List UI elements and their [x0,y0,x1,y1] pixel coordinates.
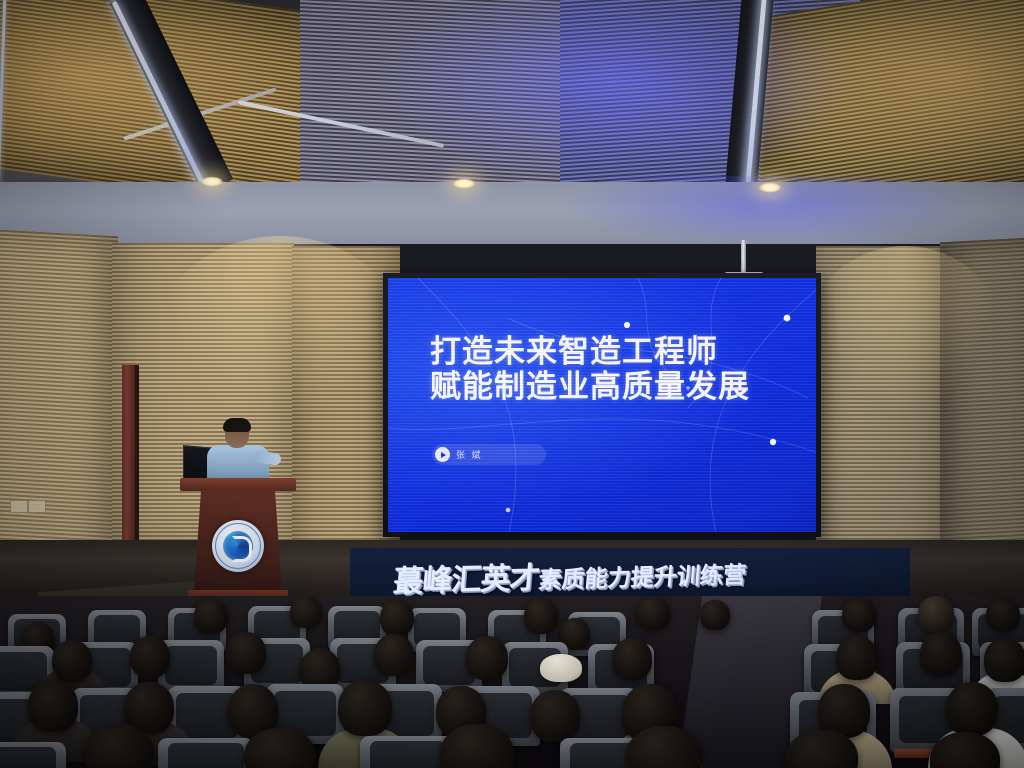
presentation-screen[interactable]: 打造未来智造工程师 赋能制造业高质量发展 张 斌 [388,278,816,532]
audience-head [920,632,962,676]
audience-head [612,638,652,680]
audience-head [374,634,414,676]
ceiling-panel-mid-left [300,0,600,186]
lectern-podium [186,478,290,606]
audience-head [338,680,392,736]
wall-outlet[interactable] [10,500,28,513]
recessed-downlight-icon [758,182,782,193]
audience-head [918,596,954,632]
seat[interactable] [158,738,254,768]
recessed-downlight-icon [200,176,224,187]
lecture-hall-photo: 打造未来智造工程师 赋能制造业高质量发展 张 斌 蕞峰汇英才素质能力提升训练营 [0,0,1024,768]
audience-head [836,636,878,680]
audience-head-with-cap [540,654,582,682]
audience-head [986,598,1020,632]
audience-head [466,636,508,680]
led-scanline-overlay [388,278,816,532]
audience-head [52,640,92,682]
audience-seating [0,596,1024,768]
audience-head [700,600,730,630]
presenter-figure [205,420,275,482]
audience-head [524,598,558,634]
speaker-name-label: 张 斌 [456,448,483,461]
audience-head [636,596,670,630]
audience-head [946,682,998,736]
audience-head [290,596,322,628]
led-video-wall-bezel: 打造未来智造工程师 赋能制造业高质量发展 张 斌 [383,273,821,537]
ceiling-soffit [0,182,1024,244]
audience-head [226,632,266,674]
audience-head [380,600,414,636]
play-circle-icon [435,447,450,462]
university-crest-emblem [212,520,264,572]
slide-network-graphic [388,278,816,532]
event-banner-title: 蕞峰汇英才素质能力提升训练营 [392,548,748,601]
audience-head [530,690,580,742]
seat[interactable] [0,742,66,768]
slide-headline: 打造未来智造工程师 赋能制造业高质量发展 [430,334,750,405]
ceiling [0,0,1024,186]
audience-head [194,598,228,634]
recessed-downlight-icon [452,178,476,189]
audience-head [28,680,78,732]
speaker-name-badge[interactable]: 张 斌 [432,444,546,465]
emblem-swoosh-icon [223,531,253,561]
banner-sub-text: 素质能力提升训练营 [538,561,748,592]
audience-head [984,638,1024,682]
banner-main-text: 蕞峰汇英才 [392,561,540,600]
lectern-top [180,478,296,491]
wall-outlet[interactable] [28,500,46,513]
audience-head [842,598,876,632]
audience-head [130,636,170,678]
presenter-hair [223,418,251,432]
ceiling-panel-right [760,0,1024,186]
